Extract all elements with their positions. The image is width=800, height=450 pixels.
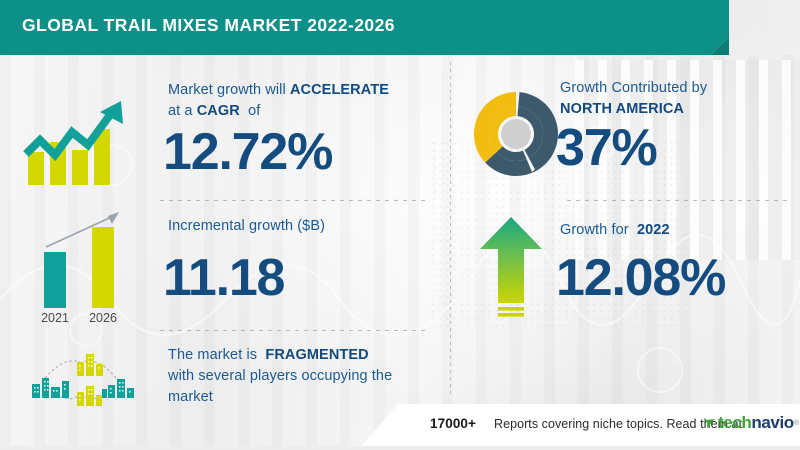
up-arrow-icon <box>478 215 544 323</box>
bar-chart-icon: 2021 2026 <box>22 205 132 325</box>
fragmented-market-caption: The market is FRAGMENTEDwith several pla… <box>168 345 443 408</box>
left-divider-2 <box>160 330 428 331</box>
growth-2022-value: 12.08% <box>556 252 725 304</box>
report-count: 17000+ <box>430 416 476 431</box>
cagr-value: 12.72% <box>163 126 332 178</box>
incremental-growth-value: 11.18 <box>163 252 284 304</box>
growth-chart-icon <box>22 95 127 190</box>
technavio-arrow-icon <box>703 417 716 430</box>
cagr-caption: Market growth will ACCELERATEat a CAGR o… <box>168 80 433 122</box>
column-divider <box>450 62 451 397</box>
incremental-growth-caption: Incremental growth ($B) <box>168 216 433 237</box>
technavio-logo[interactable]: tech navio ® <box>703 412 799 434</box>
logo-text-navio: navio <box>751 413 793 433</box>
logo-text-tech: tech <box>718 413 751 433</box>
page-title: GLOBAL TRAIL MIXES MARKET 2022-2026 <box>22 15 395 36</box>
north-america-value: 37% <box>556 122 656 174</box>
growth-2022-caption: Growth for 2022 <box>560 220 795 241</box>
donut-chart-icon <box>470 88 562 180</box>
right-divider-1 <box>567 200 792 201</box>
left-divider-1 <box>160 200 428 201</box>
city-clusters-icon <box>18 348 143 410</box>
bar-label-2021: 2021 <box>41 311 69 325</box>
bar-label-2026: 2026 <box>89 311 117 325</box>
infographic-canvas: GLOBAL TRAIL MIXES MARKET 2022-2026 2021… <box>0 0 800 450</box>
logo-trademark: ® <box>794 420 799 427</box>
north-america-caption: Growth Contributed byNORTH AMERICA <box>560 78 795 120</box>
footer-bottom-strip <box>0 446 800 450</box>
